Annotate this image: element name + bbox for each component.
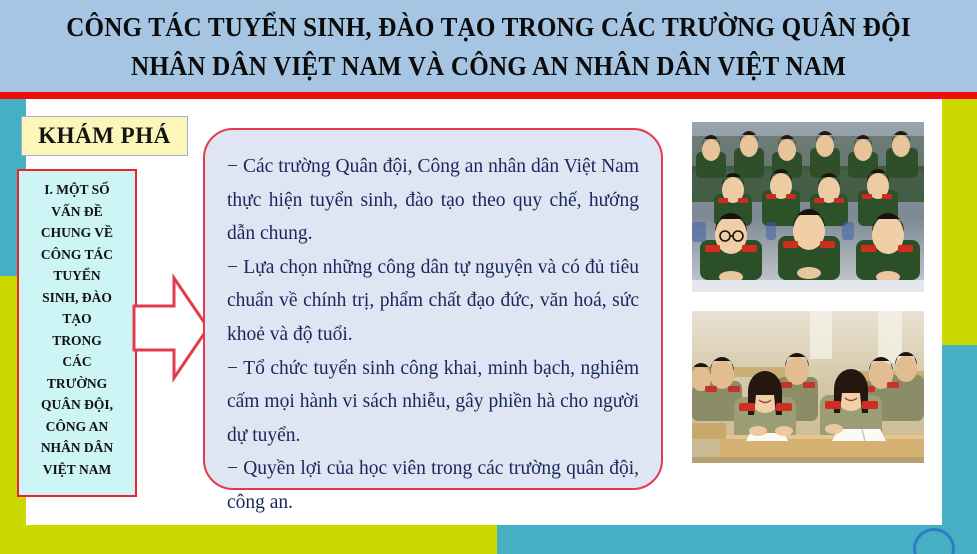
slide-canvas: CÔNG TÁC TUYỂN SINH, ĐÀO TẠO TRONG CÁC T… [0, 0, 977, 554]
decor-right-lime-band [942, 98, 977, 345]
content-text-box: − Các trường Quân đội, Công an nhân dân … [203, 128, 663, 490]
section-title-label: I. MỘT SỐ VẤN ĐỀ CHUNG VỀ CÔNG TÁC TUYỂN… [41, 179, 113, 480]
decor-right-teal-band [942, 345, 977, 554]
decor-bottom-lime-band [0, 525, 497, 554]
photo-military-female-cadets [692, 122, 924, 292]
explore-banner-label: KHÁM PHÁ [38, 123, 170, 149]
right-arrow-icon [132, 272, 210, 384]
content-body-text: − Các trường Quân đội, Công an nhân dân … [227, 150, 639, 520]
explore-banner: KHÁM PHÁ [21, 116, 188, 156]
page-title-line-1: CÔNG TÁC TUYỂN SINH, ĐÀO TẠO TRONG CÁC T… [34, 8, 943, 47]
page-title-line-2: NHÂN DÂN VIỆT NAM VÀ CÔNG AN NHÂN DÂN VI… [34, 47, 943, 86]
section-title-box: I. MỘT SỐ VẤN ĐỀ CHUNG VỀ CÔNG TÁC TUYỂN… [17, 169, 137, 497]
page-title: CÔNG TÁC TUYỂN SINH, ĐÀO TẠO TRONG CÁC T… [34, 8, 943, 86]
header-divider-rule [0, 92, 977, 99]
decor-bottom-teal-band [497, 525, 977, 554]
photo-police-cadets-classroom [692, 311, 924, 463]
